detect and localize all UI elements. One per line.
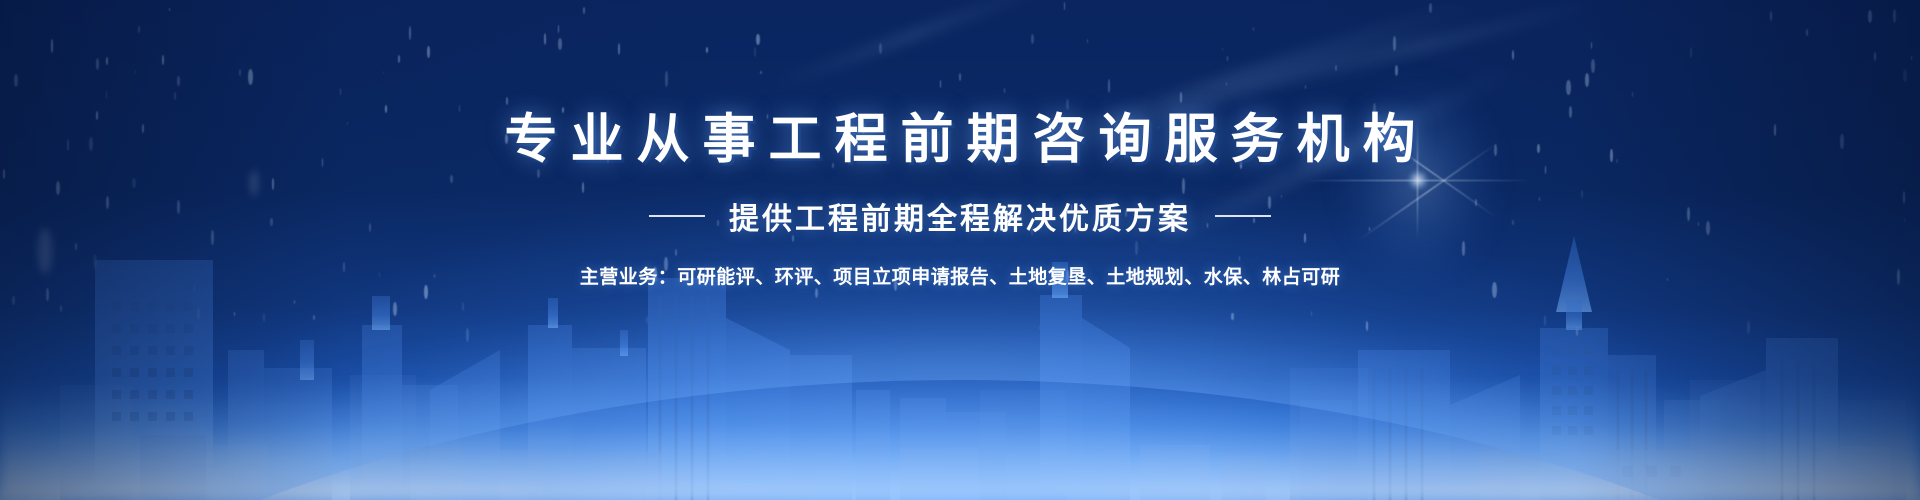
banner-headline: 专业从事工程前期咨询服务机构 [0,0,1920,168]
banner-subtitle: 提供工程前期全程解决优质方案 [729,194,1191,238]
rule-right-icon [1215,215,1271,217]
hero-banner: 专业从事工程前期咨询服务机构 提供工程前期全程解决优质方案 主营业务：可研能评、… [0,0,1920,500]
banner-business-scope: 主营业务：可研能评、环评、项目立项申请报告、土地复垦、土地规划、水保、林占可研 [0,262,1920,289]
rule-left-icon [649,215,705,217]
banner-subtitle-row: 提供工程前期全程解决优质方案 [0,194,1920,238]
banner-text-block: 专业从事工程前期咨询服务机构 提供工程前期全程解决优质方案 主营业务：可研能评、… [0,0,1920,289]
